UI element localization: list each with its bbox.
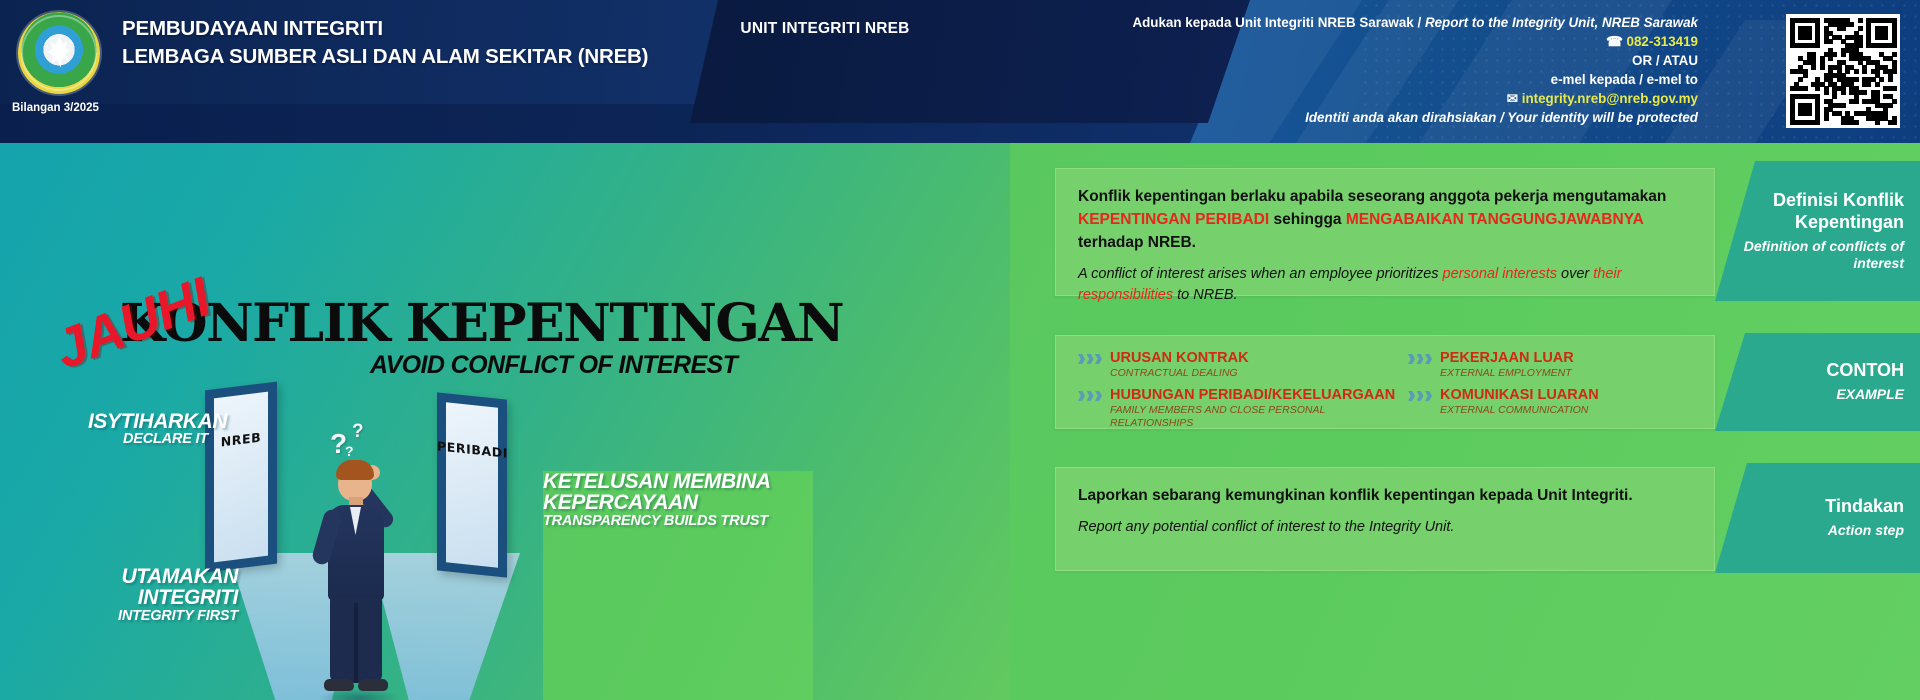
definition-my-red1: KEPENTINGAN PERIBADI bbox=[1078, 211, 1269, 228]
definition-text-en: A conflict of interest arises when an em… bbox=[1078, 264, 1692, 306]
tab-label-en: EXAMPLE bbox=[1836, 386, 1904, 403]
report-my: Adukan kepada Unit Integriti NREB Sarawa… bbox=[1132, 15, 1413, 30]
email-label: e-mel kepada / e-mel to bbox=[1008, 70, 1698, 89]
qr-code[interactable] bbox=[1786, 14, 1900, 128]
definition-en-part3: to NREB. bbox=[1173, 287, 1237, 303]
tab-label-my: Tindakan bbox=[1825, 496, 1904, 518]
caption-my: UTAMAKAN INTEGRITI bbox=[28, 566, 238, 609]
qr-code-matrix bbox=[1790, 18, 1896, 124]
definition-my-red2: MENGABAIKAN TANGGUNGJAWABNYA bbox=[1346, 211, 1643, 228]
report-line: Adukan kepada Unit Integriti NREB Sarawa… bbox=[1008, 13, 1698, 32]
example-item: HUBUNGAN PERIBADI/KEKELUARGAAN FAMILY ME… bbox=[1078, 387, 1408, 429]
arrows-icon bbox=[1078, 391, 1102, 401]
content-panel: Konflik kepentingan berlaku apabila sese… bbox=[1010, 143, 1920, 700]
example-item: URUSAN KONTRAK CONTRACTUAL DEALING bbox=[1078, 350, 1408, 380]
definition-en-part1: A conflict of interest arises when an em… bbox=[1078, 266, 1443, 282]
contact-block: Adukan kepada Unit Integriti NREB Sarawa… bbox=[1008, 13, 1698, 127]
org-line-1: PEMBUDAYAAN INTEGRITI bbox=[122, 15, 648, 43]
example-my: PEKERJAAN LUAR bbox=[1440, 350, 1574, 366]
nreb-logo-icon bbox=[18, 12, 100, 94]
definition-my-part3: terhadap NREB. bbox=[1078, 234, 1196, 251]
person-hair bbox=[336, 460, 374, 480]
definition-card: Konflik kepentingan berlaku apabila sese… bbox=[1055, 168, 1715, 296]
unit-title: UNIT INTEGRITI NREB bbox=[700, 20, 950, 38]
arrows-icon bbox=[1408, 354, 1432, 364]
question-mark-icon: ? bbox=[352, 421, 364, 443]
report-en: Report to the Integrity Unit, NREB Saraw… bbox=[1425, 15, 1698, 30]
phone-number: 082-313419 bbox=[1627, 34, 1698, 49]
arrows-icon bbox=[1408, 391, 1432, 401]
page-title: KONFLIK KEPENTINGAN bbox=[120, 298, 843, 350]
example-my: KOMUNIKASI LUARAN bbox=[1440, 387, 1599, 403]
email-address: integrity.nreb@nreb.gov.my bbox=[1522, 91, 1698, 106]
person-shoe-right bbox=[358, 679, 388, 691]
example-item: KOMUNIKASI LUARAN EXTERNAL COMMUNICATION bbox=[1408, 387, 1708, 417]
header-org-title: PEMBUDAYAAN INTEGRITI LEMBAGA SUMBER ASL… bbox=[122, 15, 648, 70]
example-item: PEKERJAAN LUAR EXTERNAL EMPLOYMENT bbox=[1408, 350, 1708, 380]
arrows-icon bbox=[1078, 354, 1102, 364]
example-my: HUBUNGAN PERIBADI/KEKELUARGAAN bbox=[1110, 387, 1408, 403]
caption-my: KETELUSAN MEMBINA KEPERCAYAAN bbox=[543, 471, 813, 514]
tab-label-my: Definisi Konflik Kepentingan bbox=[1715, 190, 1904, 234]
caption-transparency: KETELUSAN MEMBINA KEPERCAYAAN TRANSPAREN… bbox=[543, 471, 813, 700]
poster-header: PEMBUDAYAAN INTEGRITI LEMBAGA SUMBER ASL… bbox=[0, 0, 1920, 143]
tab-action[interactable]: Tindakan Action step bbox=[1715, 463, 1920, 573]
door-peribadi: PERIBADI bbox=[437, 392, 507, 577]
infographic-poster: PEMBUDAYAAN INTEGRITI LEMBAGA SUMBER ASL… bbox=[0, 0, 1920, 700]
action-text-en: Report any potential conflict of interes… bbox=[1078, 517, 1692, 538]
tab-label-my: CONTOH bbox=[1826, 360, 1904, 382]
phone-icon: ☎ bbox=[1606, 34, 1623, 49]
caption-declare: ISYTIHARKAN DECLARE IT bbox=[88, 411, 208, 448]
definition-my-part1: Konflik kepentingan berlaku apabila sese… bbox=[1078, 188, 1666, 205]
tab-definition[interactable]: Definisi Konflik Kepentingan Definition … bbox=[1715, 161, 1920, 301]
caption-integrity: UTAMAKAN INTEGRITI INTEGRITY FIRST bbox=[28, 566, 238, 624]
page-subtitle: AVOID CONFLICT OF INTEREST bbox=[370, 351, 737, 380]
issue-number: Bilangan 3/2025 bbox=[12, 102, 99, 114]
envelope-icon: ✉ bbox=[1507, 91, 1518, 106]
example-column-right: PEKERJAAN LUAR EXTERNAL EMPLOYMENT KOMUN… bbox=[1408, 350, 1708, 424]
action-text-my: Laporkan sebarang kemungkinan konflik ke… bbox=[1078, 485, 1692, 508]
definition-text-my: Konflik kepentingan berlaku apabila sese… bbox=[1078, 186, 1692, 255]
hero-panel: KONFLIK KEPENTINGAN JAUHI AVOID CONFLICT… bbox=[0, 143, 1010, 700]
caption-en: INTEGRITY FIRST bbox=[28, 609, 238, 624]
report-separator: / bbox=[1417, 15, 1421, 30]
example-card: URUSAN KONTRAK CONTRACTUAL DEALING HUBUN… bbox=[1055, 335, 1715, 429]
email-line[interactable]: ✉ integrity.nreb@nreb.gov.my bbox=[1008, 89, 1698, 108]
definition-en-part2: over bbox=[1557, 266, 1593, 282]
door-panel bbox=[446, 402, 498, 567]
tab-label-en: Action step bbox=[1828, 522, 1904, 539]
person-illustration bbox=[300, 443, 420, 700]
caption-en: TRANSPARENCY BUILDS TRUST bbox=[543, 514, 813, 529]
or-line: OR / ATAU bbox=[1008, 51, 1698, 70]
example-en: EXTERNAL COMMUNICATION bbox=[1440, 404, 1599, 417]
caption-en: DECLARE IT bbox=[88, 432, 208, 447]
action-card: Laporkan sebarang kemungkinan konflik ke… bbox=[1055, 467, 1715, 571]
tab-label-en: Definition of conflicts of interest bbox=[1715, 238, 1904, 272]
definition-my-part2: sehingga bbox=[1269, 211, 1346, 228]
example-en: FAMILY MEMBERS AND CLOSE PERSONAL RELATI… bbox=[1110, 404, 1408, 429]
example-en: EXTERNAL EMPLOYMENT bbox=[1440, 367, 1574, 380]
definition-en-red1: personal interests bbox=[1443, 266, 1557, 282]
org-line-2: LEMBAGA SUMBER ASLI DAN ALAM SEKITAR (NR… bbox=[122, 43, 648, 71]
person-leg-split bbox=[354, 603, 358, 683]
caption-my: ISYTIHARKAN bbox=[88, 411, 208, 432]
tab-example[interactable]: CONTOH EXAMPLE bbox=[1715, 333, 1920, 431]
logo-ring bbox=[21, 15, 97, 91]
example-en: CONTRACTUAL DEALING bbox=[1110, 367, 1249, 380]
example-my: URUSAN KONTRAK bbox=[1110, 350, 1249, 366]
privacy-note: Identiti anda akan dirahsiakan / Your id… bbox=[1008, 108, 1698, 127]
phone-line[interactable]: ☎ 082-313419 bbox=[1008, 32, 1698, 51]
person-shoe-left bbox=[324, 679, 354, 691]
example-column-left: URUSAN KONTRAK CONTRACTUAL DEALING HUBUN… bbox=[1078, 350, 1408, 436]
